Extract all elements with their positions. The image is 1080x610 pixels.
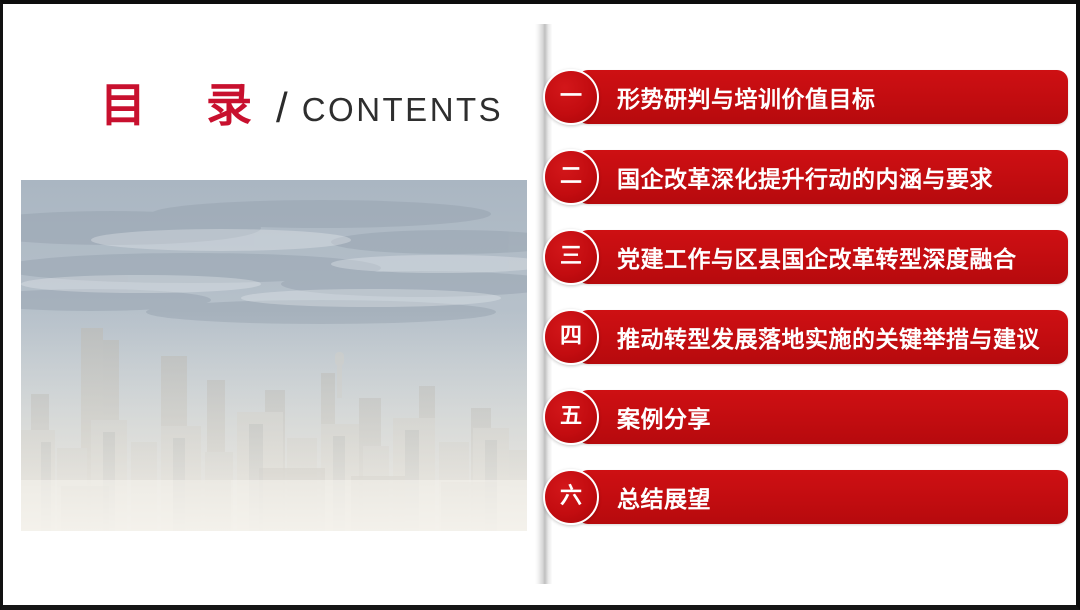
title-separator: / <box>276 87 288 129</box>
toc-number-badge: 五 <box>543 389 599 445</box>
toc-number-badge: 四 <box>543 309 599 365</box>
page-title: 目 录 / CONTENTS <box>100 82 503 128</box>
toc-item-2[interactable]: 二 国企改革深化提升行动的内涵与要求 <box>543 150 1073 204</box>
city-skyline-illustration <box>21 180 527 531</box>
toc-number: 六 <box>560 486 582 508</box>
toc-number: 四 <box>560 326 582 348</box>
toc-label: 党建工作与区县国企改革转型深度融合 <box>617 230 1017 284</box>
toc-number-badge: 一 <box>543 69 599 125</box>
toc-label: 总结展望 <box>617 470 711 524</box>
toc-label: 推动转型发展落地实施的关键举措与建议 <box>617 310 1040 364</box>
toc-number-badge: 三 <box>543 229 599 285</box>
toc-number: 二 <box>560 166 582 188</box>
toc-number: 五 <box>560 406 582 428</box>
toc-number: 一 <box>560 86 582 108</box>
toc-number-badge: 六 <box>543 469 599 525</box>
toc-item-6[interactable]: 六 总结展望 <box>543 470 1073 524</box>
slide-canvas: 目 录 / CONTENTS <box>0 0 1080 610</box>
toc-list: 一 形势研判与培训价值目标 二 国企改革深化提升行动的内涵与要求 三 党建工作与… <box>543 70 1073 524</box>
toc-item-3[interactable]: 三 党建工作与区县国企改革转型深度融合 <box>543 230 1073 284</box>
city-skyline-photo <box>21 180 527 531</box>
toc-item-4[interactable]: 四 推动转型发展落地实施的关键举措与建议 <box>543 310 1073 364</box>
page-title-en: CONTENTS <box>302 93 504 126</box>
toc-item-5[interactable]: 五 案例分享 <box>543 390 1073 444</box>
toc-item-1[interactable]: 一 形势研判与培训价值目标 <box>543 70 1073 124</box>
toc-label: 国企改革深化提升行动的内涵与要求 <box>617 150 993 204</box>
toc-label: 案例分享 <box>617 390 711 444</box>
toc-label: 形势研判与培训价值目标 <box>617 70 876 124</box>
page-title-cn: 目 录 <box>100 82 274 128</box>
toc-number: 三 <box>560 246 582 268</box>
toc-number-badge: 二 <box>543 149 599 205</box>
